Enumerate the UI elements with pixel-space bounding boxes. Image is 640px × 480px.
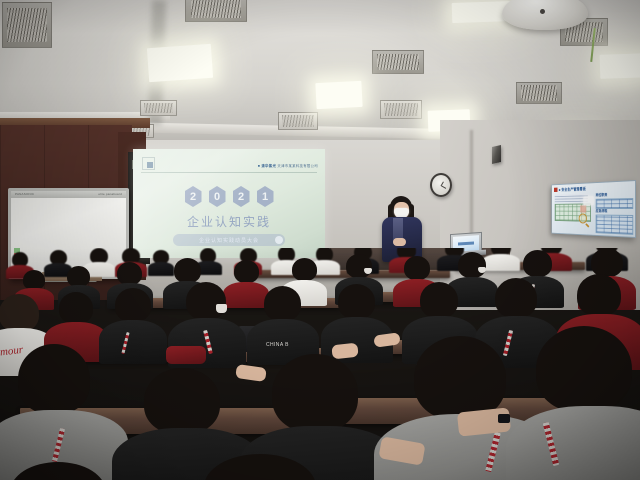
- face-mask-icon: [216, 304, 227, 313]
- person-torso: [506, 406, 640, 480]
- person-torso: [99, 320, 167, 364]
- person-head: [577, 274, 621, 316]
- person-head: [591, 248, 623, 277]
- wall-clock: [430, 173, 452, 197]
- ceiling-panel-light: [600, 53, 640, 79]
- presenter-hands: [393, 238, 406, 246]
- slide-corp-name: ■ 清华紫光 天津市某某科技有限公司: [258, 163, 318, 168]
- poster-glare: [583, 196, 594, 205]
- person-head: [338, 284, 375, 319]
- magnifier-icon: [579, 213, 587, 223]
- poster-section-label: 岗位职责: [596, 193, 608, 198]
- person-head: [414, 336, 506, 420]
- person-head: [292, 258, 317, 281]
- face-mask-icon: [478, 267, 486, 273]
- person-head: [186, 282, 226, 320]
- wristwatch: [498, 414, 510, 423]
- clock-minute-hand-icon: [441, 185, 447, 189]
- hvac-vent: [185, 0, 247, 22]
- wall-poster: ■ 安全生产管理看板 岗位职责 应急流程: [551, 180, 636, 238]
- person-head: [404, 256, 430, 280]
- slide-year-badges: 2 0 2 1: [133, 186, 325, 207]
- person-head: [23, 270, 45, 290]
- person-head: [174, 258, 201, 283]
- whiteboard-brand-left: PANASONIC: [15, 192, 34, 196]
- slide-pill-dot-icon: [275, 236, 283, 244]
- person-arm: [166, 346, 206, 364]
- jersey-print-text: CHINA B: [266, 342, 289, 348]
- slide-logo-icon: [142, 157, 155, 170]
- person-head: [272, 354, 358, 432]
- person-head: [59, 292, 93, 324]
- slide-subtitle-pill: 企业认知实践动员大会: [173, 234, 285, 246]
- person-head: [420, 282, 458, 318]
- person-head: [67, 266, 90, 287]
- whiteboard-brand-right: elite panaboard: [98, 192, 122, 196]
- audience-member: [108, 288, 158, 356]
- person-head: [264, 286, 301, 321]
- person-head: [18, 344, 90, 414]
- slide-corp-label: 天津市某某科技有限公司: [277, 164, 318, 168]
- audience-area: L'amour CHINA B: [0, 248, 640, 480]
- poster-info-block: [596, 215, 634, 235]
- person-head: [204, 454, 316, 480]
- hvac-vent: [140, 100, 177, 116]
- poster-header: ■ 安全生产管理看板: [554, 186, 586, 193]
- audience-member: [520, 326, 640, 480]
- hvac-vent: [278, 112, 318, 130]
- poster-info-block: [596, 198, 634, 209]
- year-digit: 1: [257, 186, 274, 207]
- slide-headline: 企业认知实践: [133, 213, 325, 230]
- audience-member: [8, 344, 104, 474]
- audience-member: [178, 282, 234, 358]
- person-head: [115, 288, 151, 322]
- person-head: [458, 252, 486, 278]
- year-digit: 2: [233, 186, 250, 207]
- hvac-vent: [2, 2, 52, 48]
- hvac-vent: [516, 82, 562, 104]
- person-head: [117, 262, 142, 285]
- projector-lens-icon: [540, 9, 545, 14]
- person-head: [346, 254, 372, 278]
- person-head: [536, 326, 632, 412]
- projection-screen: ■ 清华紫光 天津市某某科技有限公司 2 0 2 1 企业认知实践 企业认知实践…: [133, 149, 325, 258]
- ceiling-projector-icon: [502, 0, 588, 30]
- slide-corp-mark: ■ 清华紫光: [258, 164, 276, 168]
- person-head: [0, 294, 39, 332]
- poster-section-label: 应急流程: [596, 209, 608, 214]
- person-head: [523, 250, 552, 277]
- poster-highlight: [580, 205, 586, 212]
- audience-member: CHINA B: [256, 286, 308, 358]
- person-head: [10, 462, 106, 480]
- wall-speaker-icon: [492, 145, 501, 164]
- whiteboard-frame-top: PANASONIC elite panaboard: [11, 191, 126, 198]
- hvac-vent: [380, 100, 422, 119]
- year-digit: 0: [209, 186, 226, 207]
- ceiling-panel-light: [147, 44, 213, 82]
- audience-member: [0, 462, 130, 480]
- classroom-photo: PANASONIC elite panaboard ■ 清华紫光 天津市某某科技…: [0, 0, 640, 480]
- year-digit: 2: [185, 186, 202, 207]
- person-head: [495, 278, 537, 318]
- hvac-vent: [372, 50, 424, 74]
- audience-member: [186, 454, 336, 480]
- person-head: [144, 368, 220, 434]
- person-head: [234, 260, 259, 283]
- face-mask-icon: [364, 268, 372, 274]
- ceiling-panel-light: [315, 81, 362, 109]
- slide-divider: [141, 172, 317, 173]
- slide-subtitle: 企业认知实践动员大会: [199, 237, 259, 244]
